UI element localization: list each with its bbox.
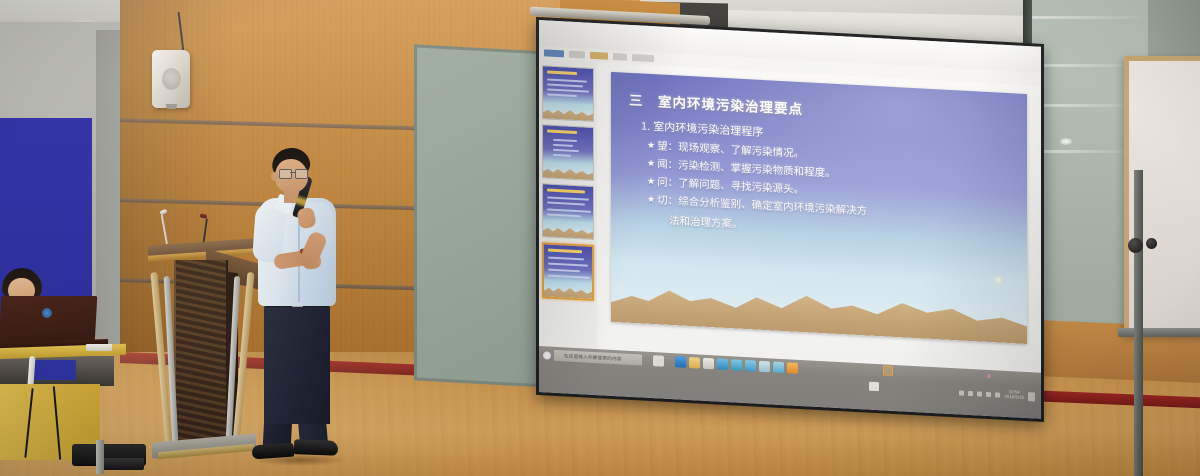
thumbnail-text-line — [547, 201, 585, 205]
thumbnail-mountain-graphic — [543, 164, 593, 180]
presenter-ear — [271, 172, 278, 181]
slide-thumbnail[interactable] — [542, 65, 594, 122]
thumbnail-text-line — [547, 83, 583, 87]
thumbnail-text-line — [547, 78, 587, 82]
thumbnail-title-bar — [548, 249, 582, 254]
glass-glint — [1060, 138, 1072, 145]
presenter-shoe — [294, 439, 338, 456]
thumbnail-text-line — [548, 257, 584, 261]
taskbar-clock[interactable]: 10:54 2019/5/19 — [1004, 390, 1024, 400]
thumbnail-title-bar — [547, 188, 585, 193]
ribbon-tab[interactable] — [569, 51, 585, 59]
table-leg — [96, 440, 104, 474]
whiteboard-adjust-knob[interactable] — [1128, 238, 1143, 253]
thumbnail-text-line — [547, 93, 577, 97]
thumbnail-text-line — [547, 88, 589, 92]
thumbnail-text-line — [553, 154, 571, 157]
eyeglass-lens — [295, 169, 308, 179]
lectern-front-panel — [174, 260, 228, 446]
speaker-mount — [166, 104, 177, 109]
edge-icon[interactable] — [675, 356, 686, 368]
show-desktop-button[interactable] — [1028, 392, 1035, 401]
glass-reflection — [1032, 16, 1142, 19]
ribbon-tab[interactable] — [544, 49, 564, 57]
browser-icon[interactable] — [773, 362, 784, 374]
word-icon[interactable] — [745, 360, 756, 372]
glass-reflection — [1036, 104, 1130, 107]
operator-station — [0, 268, 150, 476]
lecture-hall-photo: 三 室内环境污染治理要点 1. 室内环境污染治理程序 ★ 望：现场观察、了解污染… — [0, 0, 1200, 476]
thumbnail-text-line — [547, 213, 581, 217]
current-slide[interactable]: 三 室内环境污染治理要点 1. 室内环境污染治理程序 ★ 望：现场观察、了解污染… — [611, 72, 1027, 344]
start-button-icon[interactable] — [543, 351, 551, 359]
pen-icon[interactable] — [959, 390, 964, 395]
slide-thumbnail[interactable] — [542, 183, 594, 240]
network-device — [86, 344, 112, 351]
ribbon-tab[interactable] — [632, 54, 654, 62]
star-icon: ★ — [647, 140, 655, 152]
glass-reflection — [1032, 64, 1132, 67]
star-icon: ★ — [647, 176, 655, 188]
bullet-text: 闻：污染检测、掌握污染物质和程度。 — [657, 158, 836, 180]
slide-thumbnail-panel[interactable] — [539, 59, 597, 349]
thumbnail-mountain-graphic — [543, 223, 593, 239]
laptop-lid — [0, 296, 97, 344]
thumbnail-text-line — [548, 269, 580, 273]
notes-icon[interactable] — [787, 362, 798, 374]
thumbnail-text-line — [547, 208, 591, 212]
speaker-cone-icon — [162, 68, 181, 90]
thumbnail-text-line — [547, 196, 589, 200]
slide-thumbnail-selected[interactable] — [542, 242, 594, 301]
star-icon: ★ — [647, 158, 655, 170]
laptop-logo-icon — [42, 308, 52, 318]
slide-editing-area[interactable]: 三 室内环境污染治理要点 1. 室内环境污染治理程序 ★ 望：现场观察、了解污染… — [597, 62, 1041, 373]
bullet-text: 望：现场观察、了解污染情况。 — [657, 140, 804, 160]
panel-groove — [120, 118, 450, 131]
screen-surface: 三 室内环境污染治理要点 1. 室内环境污染治理程序 ★ 望：现场观察、了解污染… — [539, 20, 1041, 419]
powerpoint-icon[interactable] — [759, 361, 770, 373]
star-icon: ★ — [647, 194, 655, 206]
network-icon[interactable] — [977, 391, 982, 396]
media-icon[interactable] — [731, 359, 742, 371]
bullet-text: 问：了解问题、寻找污染源头。 — [657, 176, 804, 196]
thumbnail-mountain-graphic — [543, 105, 593, 121]
equipment-case — [34, 360, 76, 380]
thumbnail-title-bar — [547, 70, 577, 75]
system-tray[interactable]: 10:54 2019/5/19 — [959, 384, 1035, 404]
thumbnail-title-bar — [547, 129, 577, 134]
projection-screen: 三 室内环境污染治理要点 1. 室内环境污染治理程序 ★ 望：现场观察、了解污染… — [444, 6, 1044, 432]
whiteboard-stand — [1118, 56, 1200, 476]
presenter — [246, 148, 366, 468]
thumbnail-mountain-graphic — [544, 283, 592, 299]
clock-date: 2019/5/19 — [1004, 395, 1024, 401]
floor-equipment — [100, 458, 144, 470]
thumbnail-text-line — [553, 139, 577, 142]
whiteboard-marker-tray — [1118, 328, 1200, 337]
whiteboard-post — [1134, 170, 1143, 476]
chevron-up-icon[interactable] — [968, 390, 973, 395]
thumbnail-text-line — [548, 275, 590, 279]
eyeglass-lens — [279, 169, 292, 179]
slide-mountain-graphic — [611, 270, 1027, 344]
wall-speaker — [152, 50, 190, 108]
thumbnail-text-line — [548, 263, 588, 267]
battery-icon[interactable] — [995, 392, 1000, 397]
mail-icon[interactable] — [717, 359, 728, 371]
store-icon[interactable] — [703, 358, 714, 370]
thumbnail-text-line — [553, 144, 573, 147]
thumbnail-text-line — [553, 149, 579, 152]
lectern — [148, 232, 260, 464]
screen-frame: 三 室内环境污染治理要点 1. 室内环境污染治理程序 ★ 望：现场观察、了解污染… — [536, 17, 1044, 422]
presenter-shoe — [252, 443, 295, 460]
search-input[interactable]: 在这里输入你要搜索的内容 — [554, 350, 642, 366]
taskbar-notification-dot — [987, 374, 991, 378]
volume-icon[interactable] — [986, 391, 991, 396]
eyeglasses-icon — [279, 169, 307, 177]
ribbon-tab[interactable] — [613, 53, 627, 61]
slide-bullet-list: ★ 望：现场观察、了解污染情况。 ★ 闻：污染检测、掌握污染物质和程度。 ★ 问… — [647, 140, 1015, 247]
file-explorer-icon[interactable] — [689, 357, 700, 369]
slide-sun-glint — [996, 277, 1001, 282]
ribbon-tab[interactable] — [590, 52, 608, 60]
glass-reflection — [1040, 150, 1126, 153]
taskbar-highlight-marker — [883, 365, 893, 376]
search-placeholder: 在这里输入你要搜索的内容 — [564, 353, 622, 362]
task-view-icon[interactable] — [653, 355, 664, 367]
whiteboard-adjust-knob[interactable] — [1146, 238, 1157, 249]
presenter-trousers — [264, 304, 330, 424]
taskbar-active-window[interactable] — [869, 382, 879, 392]
slide-thumbnail[interactable] — [542, 124, 594, 181]
powerpoint-workspace: 三 室内环境污染治理要点 1. 室内环境污染治理程序 ★ 望：现场观察、了解污染… — [539, 59, 1041, 373]
